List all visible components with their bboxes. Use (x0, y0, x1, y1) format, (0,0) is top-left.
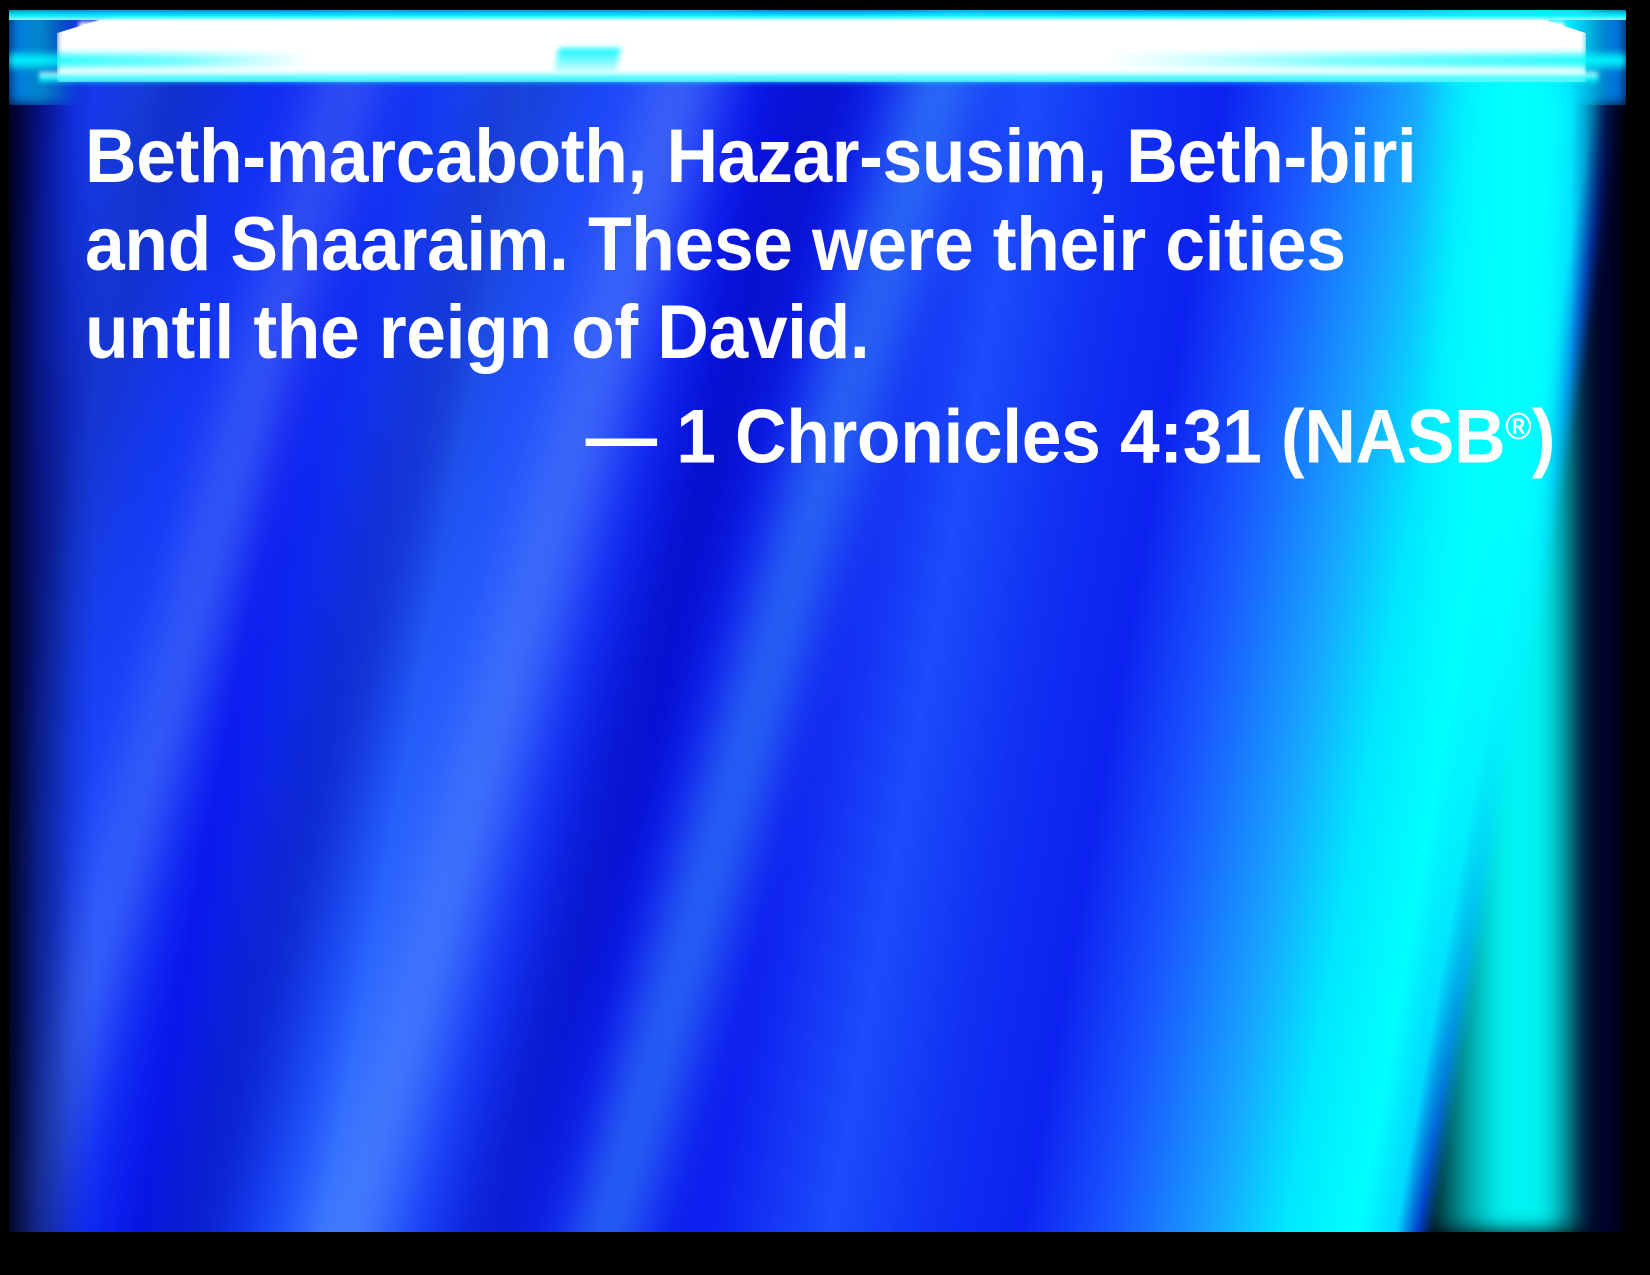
citation-spacer-2 (1100, 395, 1119, 480)
verse-text-block: Beth-marcaboth, Hazar-susim, Beth-biri a… (85, 113, 1555, 482)
citation-spacer-3 (1261, 395, 1280, 480)
left-edge-shadow (9, 10, 94, 1232)
slide-frame: Beth-marcaboth, Hazar-susim, Beth-biri a… (0, 0, 1650, 1275)
citation-book: 1 Chronicles (676, 395, 1100, 480)
citation-translation-open: (NASB (1281, 395, 1505, 480)
slide-canvas: Beth-marcaboth, Hazar-susim, Beth-biri a… (9, 10, 1626, 1232)
citation-reference: 4:31 (1120, 395, 1261, 480)
registered-trademark-icon: ® (1505, 406, 1531, 448)
citation-em-dash: — (586, 395, 657, 480)
verse-citation: — 1 Chronicles 4:31 (NASB®) (173, 383, 1555, 482)
citation-translation-close: ) (1532, 395, 1555, 480)
right-edge-shadow (1571, 10, 1626, 1232)
verse-line-1: Beth-marcaboth, Hazar-susim, Beth-biri (85, 113, 1467, 201)
citation-spacer-1 (657, 395, 676, 480)
verse-line-2: and Shaaraim. These were their cities (85, 201, 1467, 289)
verse-line-3: until the reign of David. (85, 289, 1467, 377)
